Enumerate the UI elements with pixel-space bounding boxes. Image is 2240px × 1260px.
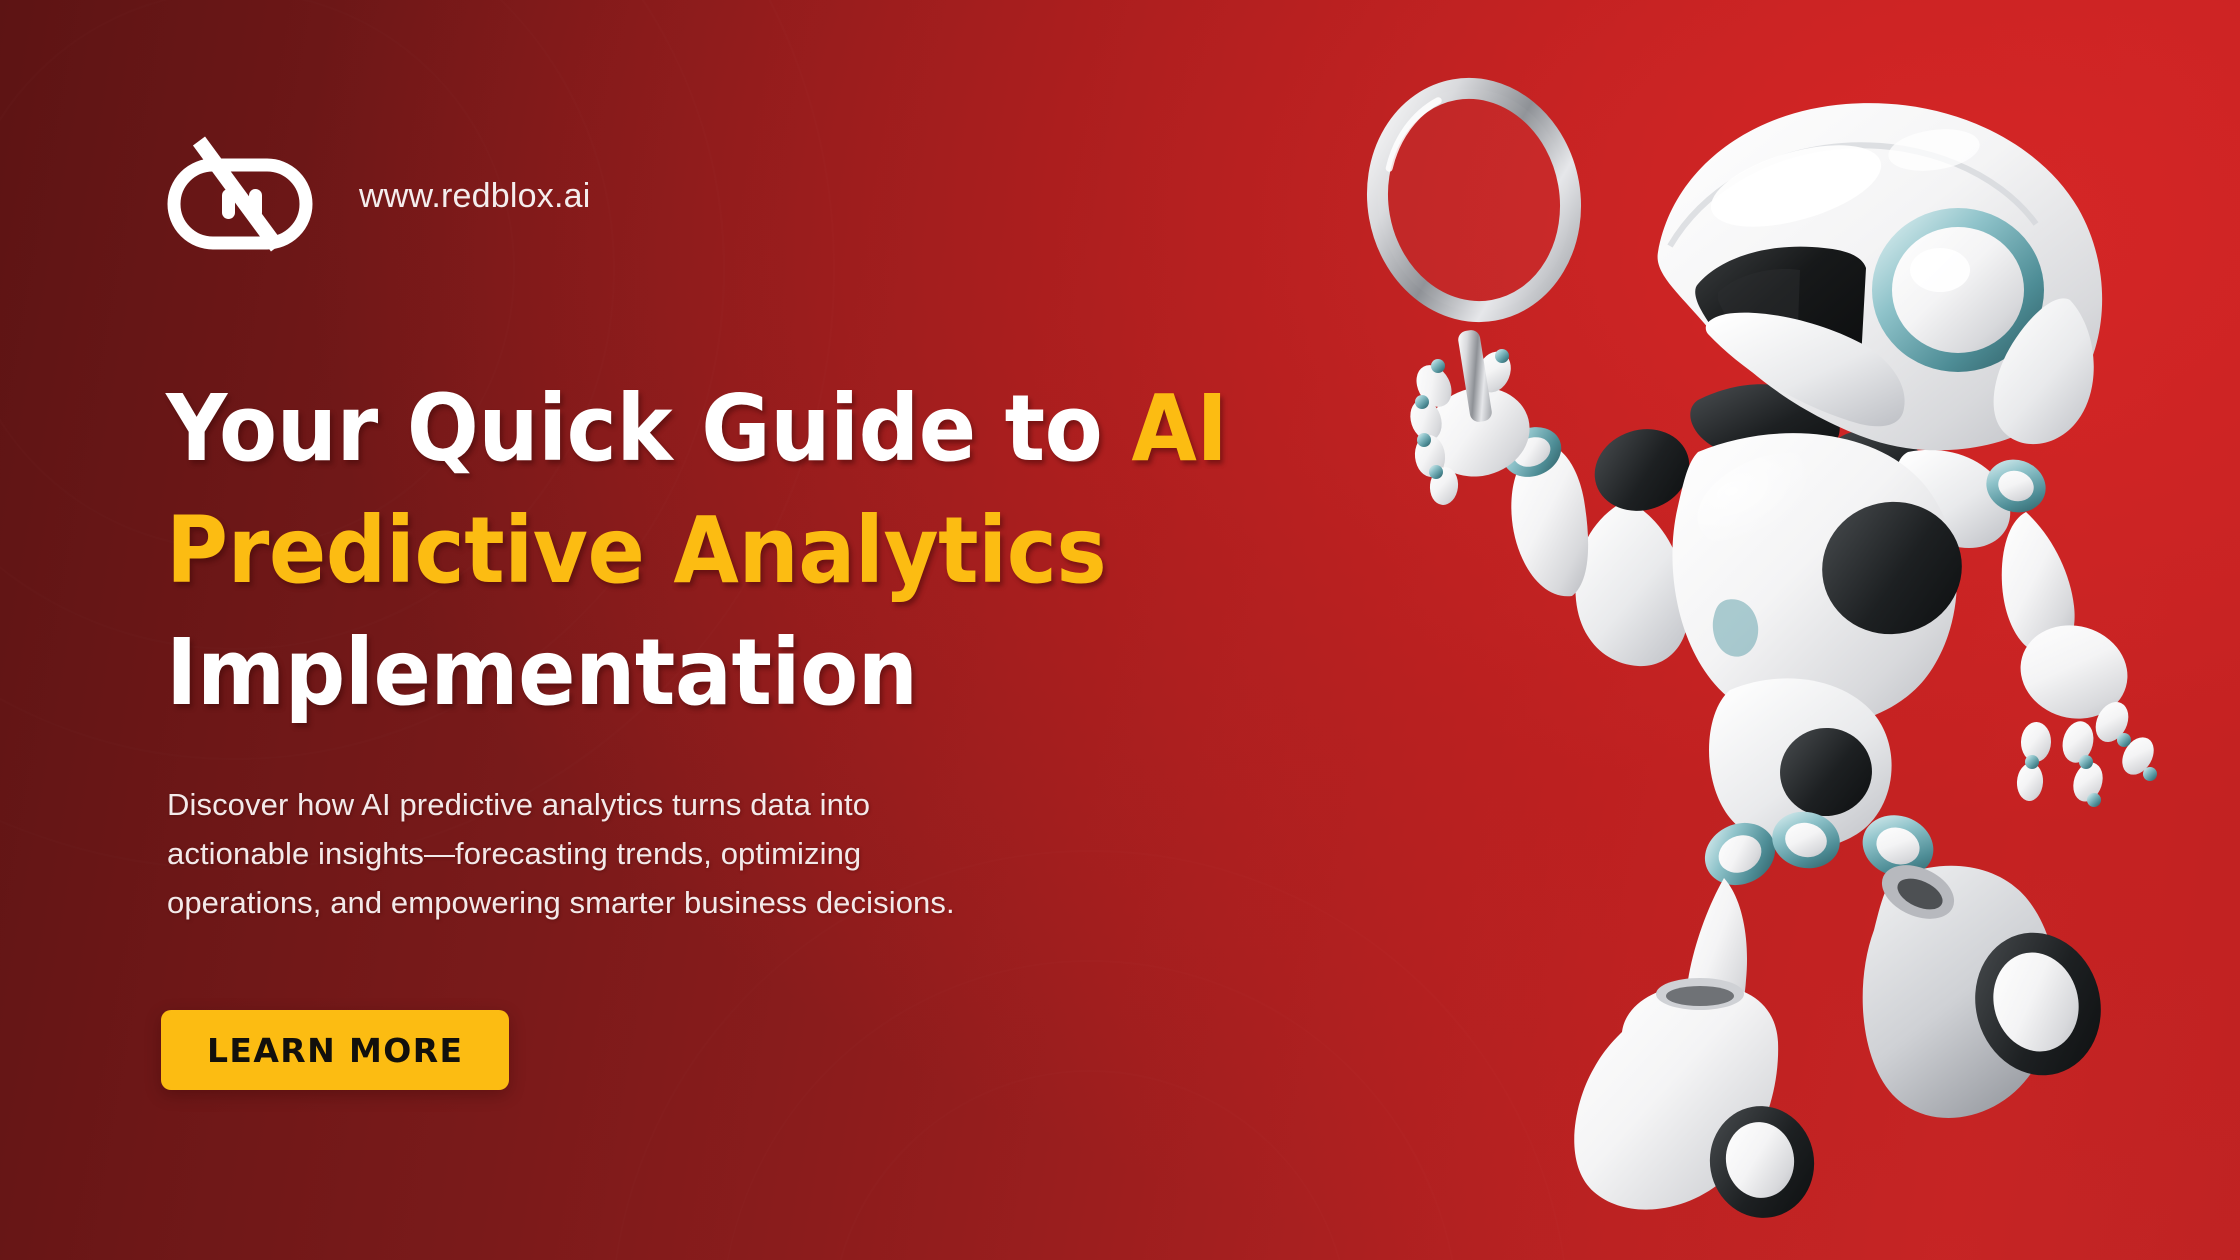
redblox-robot-logo-icon xyxy=(165,135,315,253)
brand-lockup[interactable]: www.redblox.ai xyxy=(165,135,590,253)
description-line-3: operations, and empowering smarter busin… xyxy=(167,878,1127,927)
hero-banner: www.redblox.ai Your Quick Guide to AI Pr… xyxy=(0,0,2240,1260)
headline-line-1-gold: AI xyxy=(1131,375,1227,482)
headline-line-3: Implementation xyxy=(166,612,1288,734)
headline-line-1-white: Your Quick Guide to xyxy=(166,375,1131,482)
description-line-2: actionable insights—forecasting trends, … xyxy=(167,829,1127,878)
brand-url[interactable]: www.redblox.ai xyxy=(359,173,590,216)
hero-content: www.redblox.ai Your Quick Guide to AI Pr… xyxy=(165,0,1345,1260)
hero-description: Discover how AI predictive analytics tur… xyxy=(167,780,1127,927)
robot-illustration xyxy=(1326,0,2226,1260)
description-line-1: Discover how AI predictive analytics tur… xyxy=(167,780,1127,829)
page-title: Your Quick Guide to AI Predictive Analyt… xyxy=(166,368,1386,734)
headline-line-2: Predictive Analytics xyxy=(166,490,1288,612)
headline-line-1: Your Quick Guide to AI xyxy=(166,368,1288,490)
